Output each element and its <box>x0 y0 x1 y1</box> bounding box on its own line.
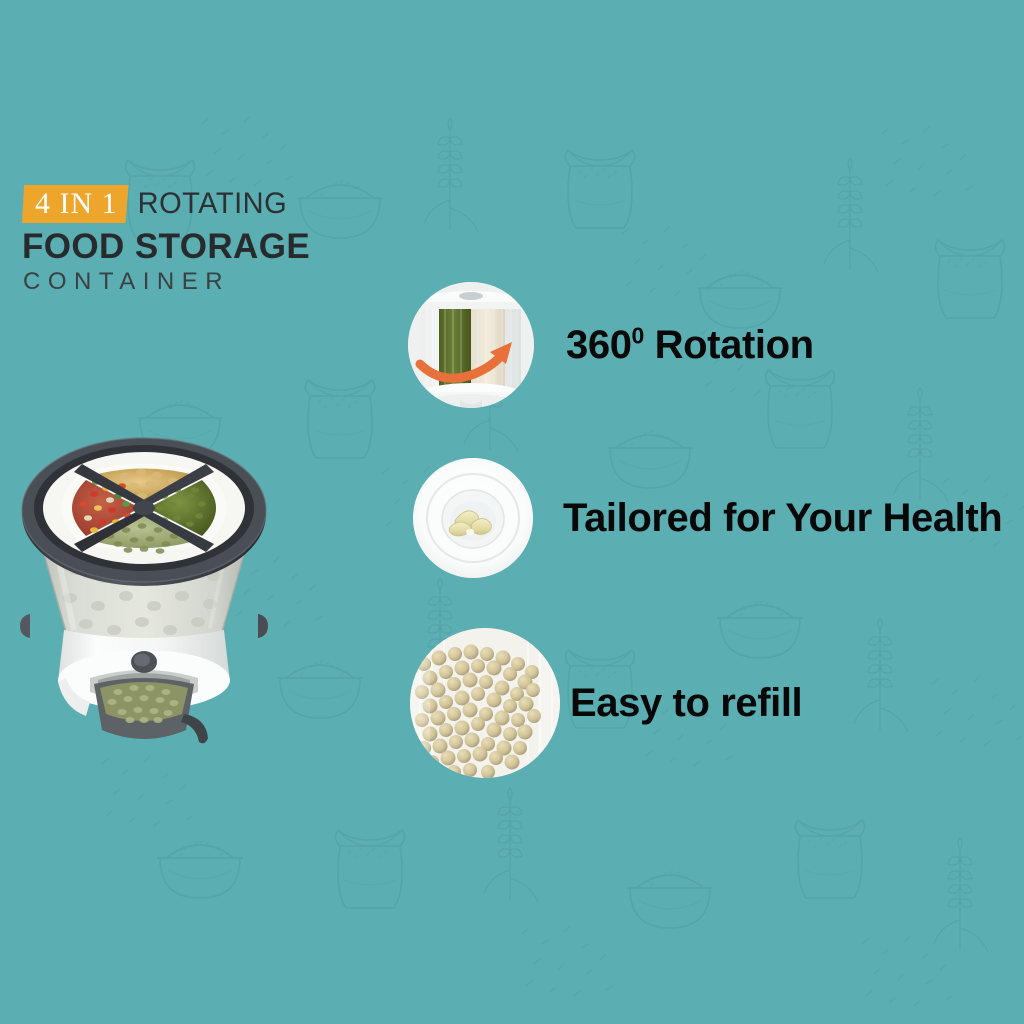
headline-line-food-storage: FOOD STORAGE <box>22 227 442 267</box>
refill-thumbnail <box>410 628 560 778</box>
feature-label-refill: Easy to refill <box>570 683 802 723</box>
feature-row-refill: Easy to refill <box>410 628 802 778</box>
headline-line-1: 4 IN 1 ROTATING <box>22 183 442 223</box>
feature-row-rotation: 3600 Rotation <box>408 282 814 408</box>
headline-line-container: CONTAINER <box>23 268 442 296</box>
product-feature-banner: 4 IN 1 ROTATING FOOD STORAGE CONTAINER <box>0 0 1024 1024</box>
product-image <box>0 362 294 782</box>
headline-block: 4 IN 1 ROTATING FOOD STORAGE CONTAINER <box>22 183 442 296</box>
feature-label-rotation-number: 360 <box>566 323 632 367</box>
rotation-thumbnail <box>408 282 534 408</box>
degree-superscript: 0 <box>632 323 644 349</box>
feature-label-rotation-rest: Rotation <box>644 323 814 367</box>
headline-word-rotating: ROTATING <box>138 185 288 224</box>
feature-label-rotation: 3600 Rotation <box>566 325 814 365</box>
badge-4-in-1: 4 IN 1 <box>22 185 129 223</box>
feature-label-health: Tailored for Your Health <box>563 498 1002 538</box>
feature-row-health: Tailored for Your Health <box>413 458 1002 578</box>
health-thumbnail <box>413 458 533 578</box>
